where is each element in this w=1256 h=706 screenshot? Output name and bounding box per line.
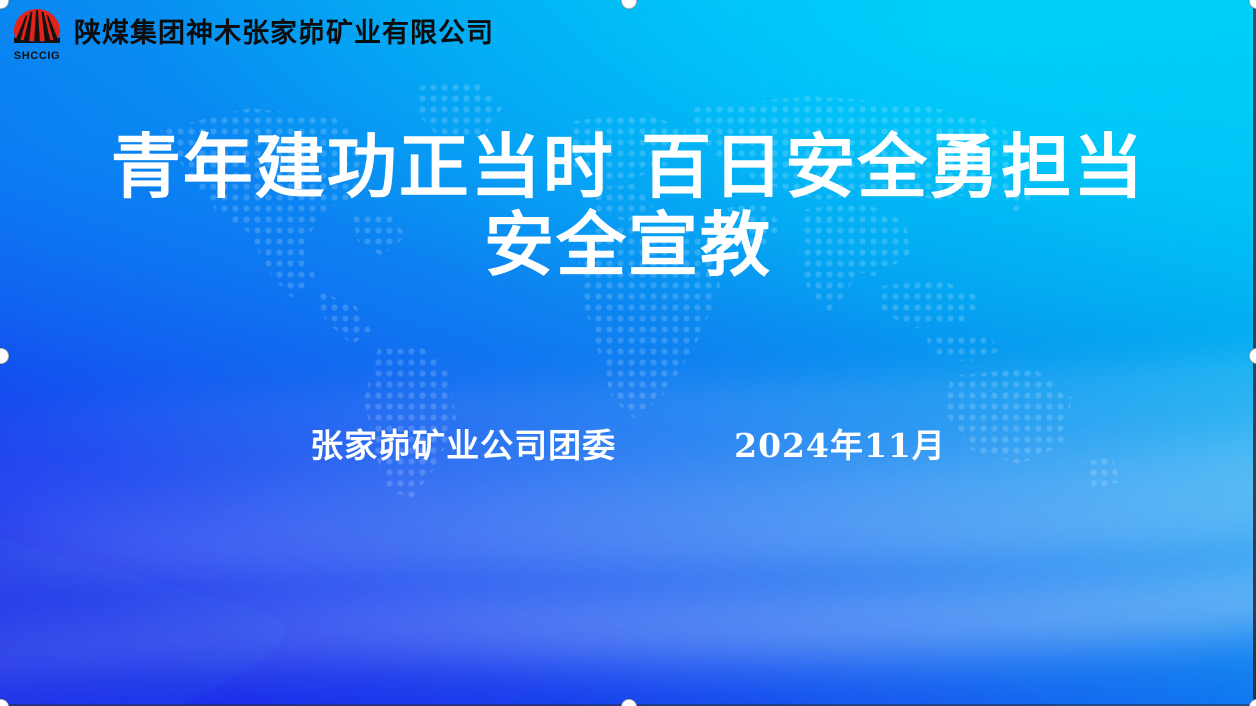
company-logo: SHCCIG: [8, 4, 66, 68]
slide-subtitle: 张家峁矿业公司团委 2024年11月: [0, 424, 1256, 468]
title-line-1: 青年建功正当时 百日安全勇担当: [0, 128, 1256, 206]
subtitle-organization: 张家峁矿业公司团委: [310, 424, 616, 468]
shccig-logo-icon: [10, 6, 64, 50]
slide-header: SHCCIG 陕煤集团神木张家峁矿业有限公司: [0, 0, 1256, 72]
subtitle-date: 2024年11月: [734, 424, 946, 468]
slide-title: 青年建功正当时 百日安全勇担当 安全宣教: [0, 128, 1256, 284]
presentation-slide[interactable]: SHCCIG 陕煤集团神木张家峁矿业有限公司 青年建功正当时 百日安全勇担当 安…: [0, 0, 1256, 706]
company-name: 陕煤集团神木张家峁矿业有限公司: [74, 20, 494, 47]
title-line-2: 安全宣教: [0, 206, 1256, 284]
logo-wordmark: SHCCIG: [8, 50, 66, 62]
